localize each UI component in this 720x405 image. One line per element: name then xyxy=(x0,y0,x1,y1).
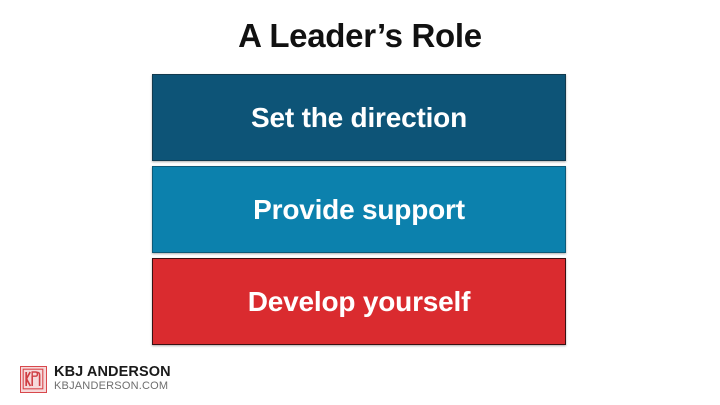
kbj-monogram-icon xyxy=(20,366,47,393)
bar-label: Provide support xyxy=(253,194,465,226)
brand-logo[interactable]: KBJ ANDERSON KBJANDERSON.COM xyxy=(20,365,171,393)
brand-name: KBJ ANDERSON xyxy=(54,365,171,380)
bar-develop-yourself[interactable]: Develop yourself xyxy=(152,258,566,345)
bar-label: Develop yourself xyxy=(248,286,470,318)
bar-provide-support[interactable]: Provide support xyxy=(152,166,566,253)
bar-label: Set the direction xyxy=(251,102,467,134)
page-title: A Leader’s Role xyxy=(0,14,720,58)
bar-set-the-direction[interactable]: Set the direction xyxy=(152,74,566,161)
bar-stack: Set the direction Provide support Develo… xyxy=(152,74,566,345)
brand-text: KBJ ANDERSON KBJANDERSON.COM xyxy=(54,365,171,393)
brand-url: KBJANDERSON.COM xyxy=(54,380,171,393)
slide-canvas: A Leader’s Role Set the direction Provid… xyxy=(0,0,720,405)
